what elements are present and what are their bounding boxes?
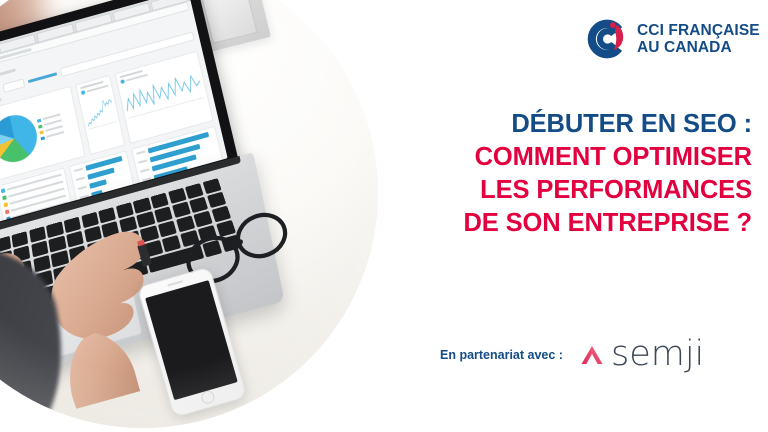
cci-logo: CCI FRANÇAISE AU CANADA — [586, 18, 760, 60]
semji-logo: semji — [577, 337, 704, 372]
phone-speaker — [167, 280, 183, 286]
headline-line-3: LES PERFORMANCES — [352, 174, 752, 207]
hands-typing-on-laptop-analytics-photo — [0, 0, 378, 428]
headline-line-2: COMMENT OPTIMISER — [352, 141, 752, 174]
headline-line-1: DÉBUTER EN SEO : — [352, 108, 752, 141]
pie-chart — [0, 109, 41, 167]
pie-legend — [37, 113, 65, 143]
headline-block: DÉBUTER EN SEO : COMMENT OPTIMISER LES P… — [352, 108, 752, 241]
cci-logo-text: CCI FRANÇAISE AU CANADA — [637, 22, 760, 57]
headline-line-3-strong: PERFORMANCES — [536, 176, 752, 204]
headline-line-4: DE SON ENTREPRISE ? — [352, 207, 752, 240]
banner-canvas: CCI FRANÇAISE AU CANADA DÉBUTER EN SEO :… — [0, 0, 768, 432]
phone-home-button — [200, 389, 216, 405]
semji-chevron-icon — [577, 340, 607, 370]
partner-label: En partenariat avec : — [440, 348, 563, 362]
partner-block: En partenariat avec : semji — [440, 337, 752, 372]
semji-wordmark: semji — [611, 337, 704, 372]
line-chart — [83, 89, 117, 130]
headline-line-3-prefix: LES — [480, 176, 536, 204]
cci-circle-mark-icon — [586, 18, 628, 60]
